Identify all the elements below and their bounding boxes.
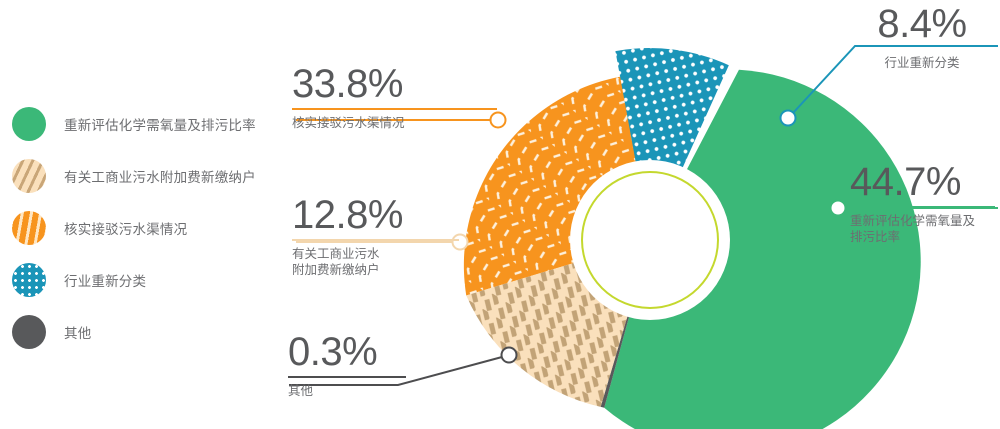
callout-rule: [288, 376, 406, 378]
callout-percent: 44.7%: [850, 160, 995, 204]
callout-caption: 其他: [288, 383, 406, 399]
callout-others: 0.3% 其他: [288, 330, 406, 399]
callout-percent: 12.8%: [292, 193, 459, 237]
callout-percent: 33.8%: [292, 62, 497, 106]
callout-caption: 核实接驳污水渠情况: [292, 115, 497, 131]
callout-caption: 行业重新分类: [846, 55, 998, 71]
callout-caption: 有关工商业污水 附加费新缴纳户: [292, 246, 459, 278]
callout-drain: 33.8% 核实接驳污水渠情况: [292, 62, 497, 131]
callout-surcharge: 12.8% 有关工商业污水 附加费新缴纳户: [292, 193, 459, 278]
callout-caption: 重新评估化学需氧量及 排污比率: [850, 213, 995, 245]
callout-percent: 8.4%: [846, 2, 998, 46]
callout-rule: [846, 48, 998, 50]
donut-hub: [570, 160, 730, 320]
callout-rule: [850, 206, 995, 208]
callout-cod: 44.7% 重新评估化学需氧量及 排污比率: [850, 160, 995, 245]
callout-reclassification: 8.4% 行业重新分类: [846, 2, 998, 71]
callout-percent: 0.3%: [288, 330, 406, 374]
callout-rule: [292, 108, 497, 110]
callout-rule: [292, 239, 459, 241]
